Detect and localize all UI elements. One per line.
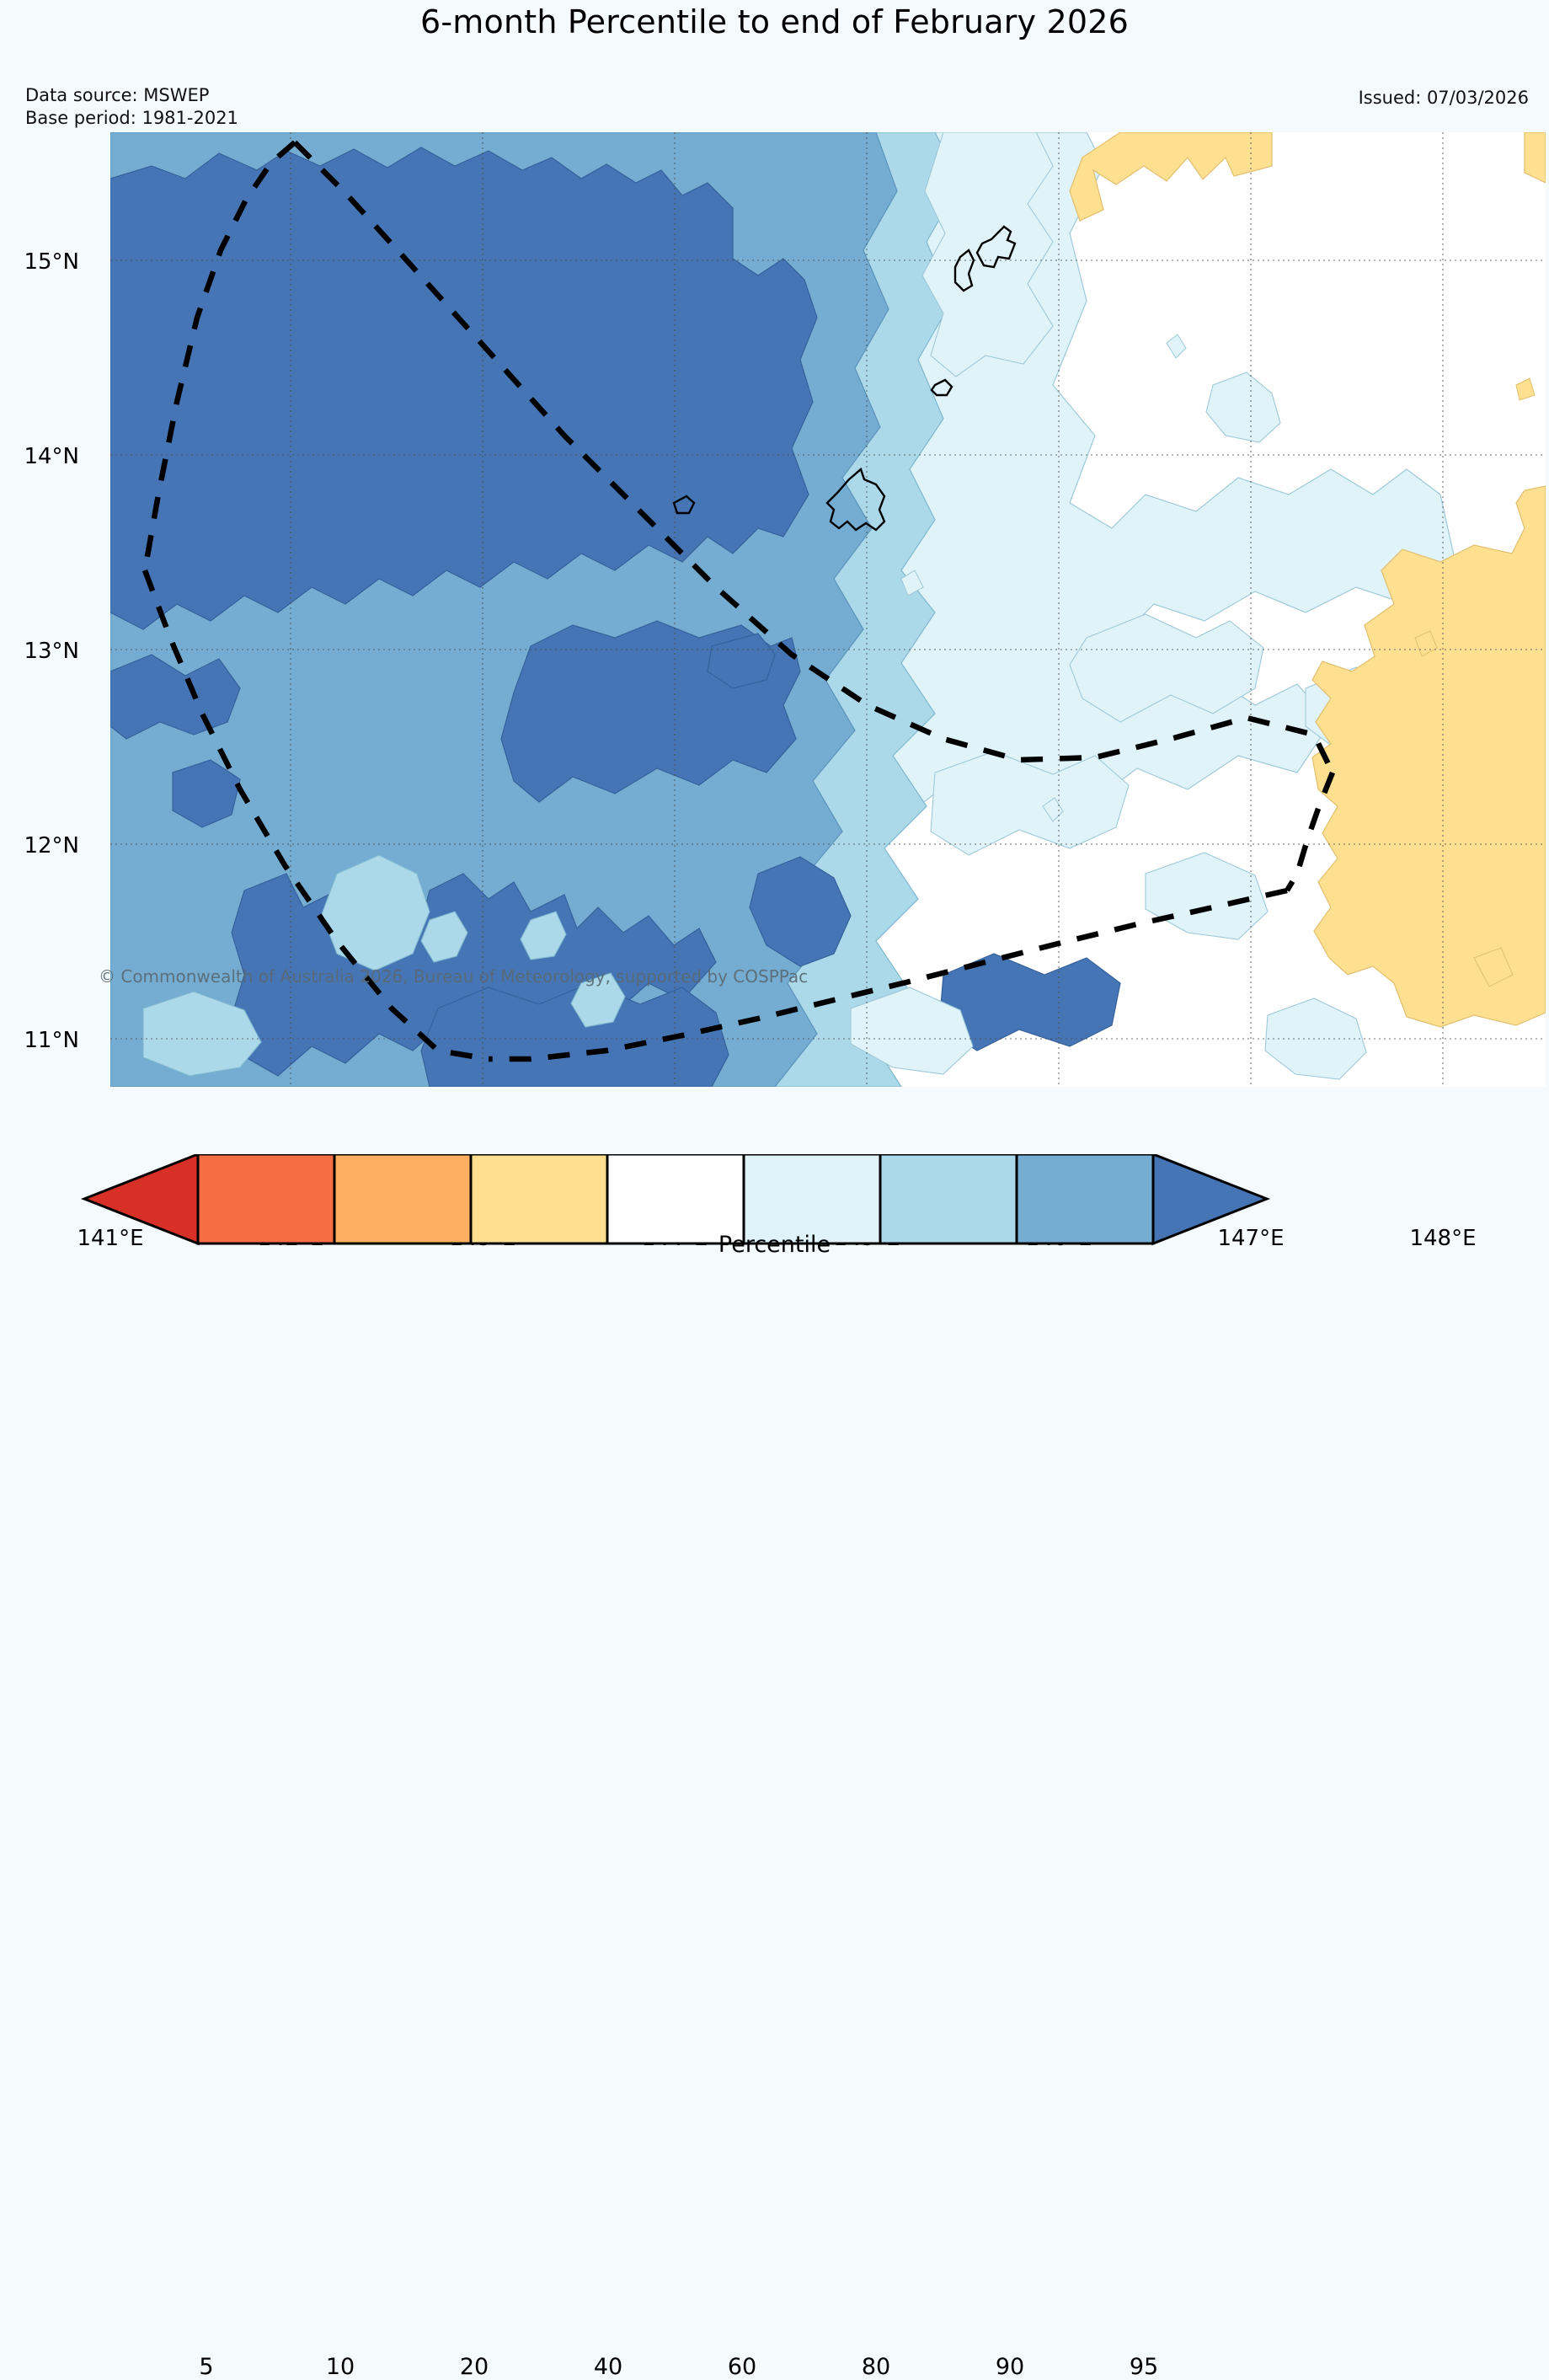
colorbar-tick-95: 95 (1130, 2354, 1158, 2380)
contour-fill-layer (110, 132, 1546, 1087)
colorbar-swatch-10-20[interactable] (334, 1154, 471, 1243)
colorbar-swatch-80-90[interactable] (880, 1154, 1017, 1243)
colorbar-tick-10: 10 (326, 2354, 355, 2380)
colorbar-swatch-90-95[interactable] (1017, 1154, 1153, 1243)
base-period-label: Base period: 1981-2021 (25, 107, 238, 130)
colorbar-tick-80: 80 (862, 2354, 890, 2380)
y-tick-14n: 14°N (24, 444, 79, 469)
colorbar-tick-20: 20 (460, 2354, 489, 2380)
colorbar-swatch-below-5[interactable] (84, 1154, 198, 1243)
colorbar-tick-40: 40 (594, 2354, 622, 2380)
colorbar-swatch-20-40[interactable] (471, 1154, 607, 1243)
issued-date-label: Issued: 07/03/2026 (1359, 88, 1529, 108)
page-title: 6-month Percentile to end of February 20… (0, 3, 1549, 40)
y-tick-13n: 13°N (24, 639, 79, 664)
colorbar-tick-60: 60 (728, 2354, 756, 2380)
y-tick-11n: 11°N (24, 1028, 79, 1053)
colorbar-tick-90: 90 (996, 2354, 1024, 2380)
y-tick-12n: 12°N (24, 833, 79, 858)
map-canvas (93, 132, 1546, 1087)
data-source-block: Data source: MSWEP Base period: 1981-202… (25, 84, 238, 130)
colorbar-swatch-40-60[interactable] (607, 1154, 744, 1243)
colorbar-title: Percentile (0, 1232, 1549, 1258)
band-60-80-upper-shelf (922, 132, 1053, 377)
colorbar-swatch-60-80[interactable] (744, 1154, 880, 1243)
colorbar-swatch-above-95[interactable] (1153, 1154, 1267, 1243)
data-source-label: Data source: MSWEP (25, 84, 238, 107)
percentile-map[interactable]: 15°N 14°N 13°N 12°N 11°N 141°E 142°E 143… (93, 132, 1546, 1087)
colorbar-tick-5: 5 (199, 2354, 213, 2380)
y-tick-15n: 15°N (24, 249, 79, 275)
colorbar-swatch-5-10[interactable] (198, 1154, 334, 1243)
